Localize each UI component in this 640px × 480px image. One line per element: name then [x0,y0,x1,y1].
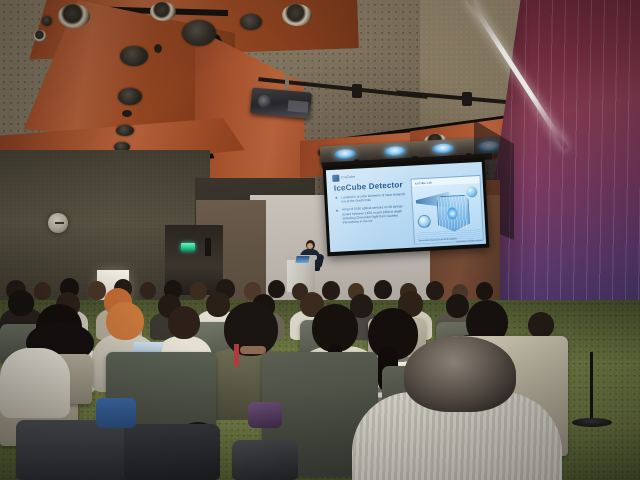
presentation-slide: IceCube IceCube Detector Located in a cu… [326,162,486,252]
track-spotlight-icon [462,92,472,106]
backpack [124,424,220,480]
presenter-laptop [295,256,309,263]
lecture-hall-photo: IceCube IceCube Detector Located in a cu… [0,0,640,480]
audience-body [0,348,70,418]
projector-mount-pole [285,62,289,94]
screen-glare [326,162,486,252]
ceiling-downlight-icon [118,88,142,105]
exit-sign [181,243,195,251]
ceiling-downlight-icon [116,125,134,136]
presenter-face [307,243,313,249]
track-spotlight-icon [352,84,362,98]
blue-downlight-icon [384,146,407,157]
clock-hands-icon [55,222,64,224]
ceiling-speaker-icon [58,4,90,28]
backpack [248,402,282,428]
projector-front-panel [288,100,309,113]
backpack [232,440,298,480]
ceiling-downlight-icon [42,16,52,26]
ceiling-speaker-icon [282,4,312,26]
ceiling-sensor-icon [154,44,162,53]
blue-downlight-icon [432,143,455,154]
door-frame [205,238,211,256]
backpack [16,420,136,480]
ceiling-downlight-icon [120,46,148,66]
blue-downlight-icon [334,149,357,160]
ceiling-downlight-icon [182,20,216,46]
ceiling-speaker-icon [34,30,46,42]
ceiling-downlight-icon [240,14,262,30]
ceiling-speaker-icon [150,2,176,21]
audience-head [404,336,516,412]
backpack [96,398,136,428]
ceiling-downlight-icon [122,110,132,117]
projection-screen[interactable]: IceCube IceCube Detector Located in a cu… [323,158,490,257]
